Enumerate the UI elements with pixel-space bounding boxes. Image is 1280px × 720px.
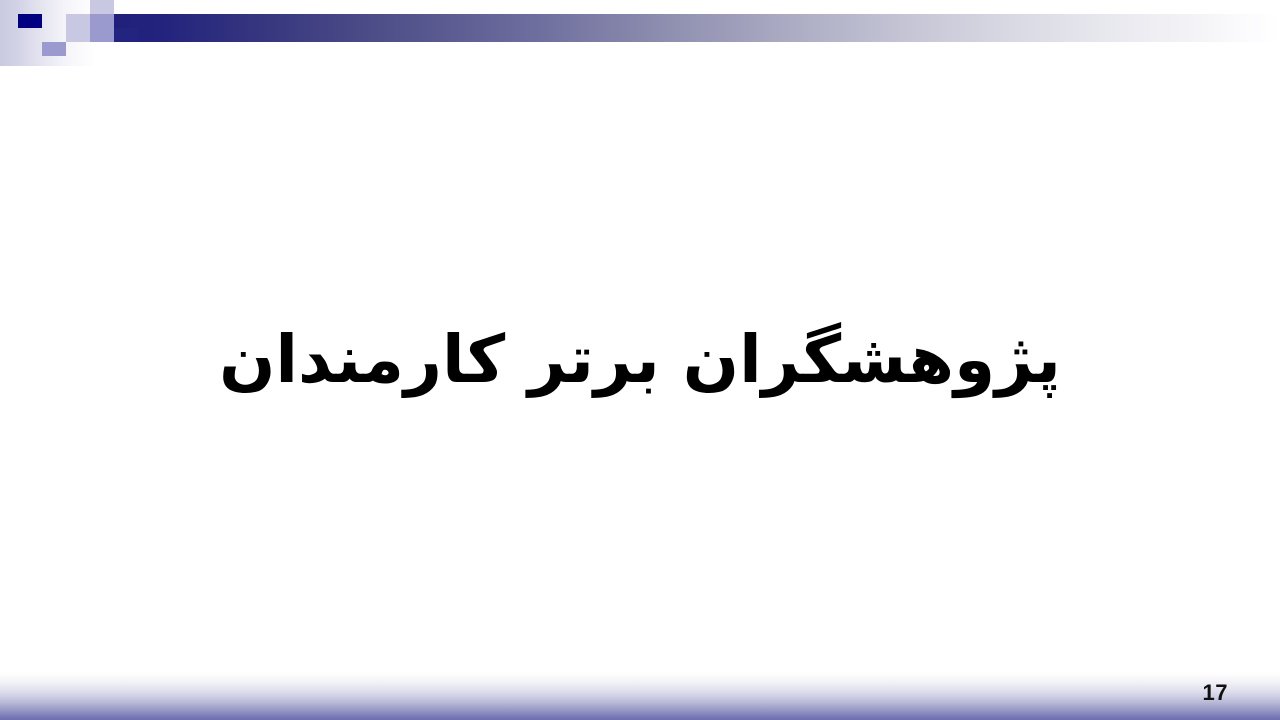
page-title: پژوهشگران برتر کارمندان [159, 319, 1121, 402]
footer-band [0, 670, 1280, 720]
page-number: 17 [1203, 680, 1228, 706]
presentation-slide: پژوهشگران برتر کارمندان 17 [0, 0, 1280, 720]
title-area: پژوهشگران برتر کارمندان [0, 0, 1280, 720]
